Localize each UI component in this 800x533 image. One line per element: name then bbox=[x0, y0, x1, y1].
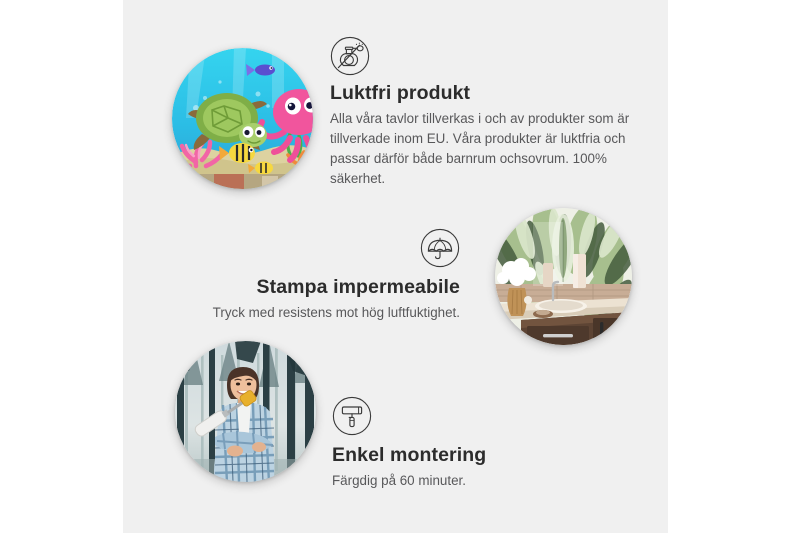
paint-roller-icon bbox=[332, 396, 372, 436]
feature-waterproof-print: Stampa impermeabile Tryck med resistens … bbox=[170, 228, 460, 323]
feature-easy-mounting-title: Enkel montering bbox=[332, 444, 622, 466]
feature-waterproof-body: Tryck med resistens mot hög luftfuktighe… bbox=[170, 303, 460, 323]
photo-bathroom-tropical-wallpaper bbox=[495, 208, 632, 345]
infographic-canvas: Luktfri produkt Alla våra tavlor tillver… bbox=[0, 0, 800, 533]
feature-easy-mounting-body: Färgdig på 60 minuter. bbox=[332, 471, 622, 491]
no-perfume-icon bbox=[330, 36, 370, 76]
umbrella-icon bbox=[420, 228, 460, 268]
feature-odour-free-title: Luktfri produkt bbox=[330, 82, 630, 104]
feature-odour-free-body: Alla våra tavlor tillverkas i och av pro… bbox=[330, 109, 630, 188]
photo-underwater-kids-mural bbox=[172, 48, 313, 189]
feature-easy-mounting: Enkel montering Färgdig på 60 minuter. bbox=[332, 396, 622, 491]
feature-odour-free: Luktfri produkt Alla våra tavlor tillver… bbox=[330, 36, 630, 188]
feature-waterproof-title: Stampa impermeabile bbox=[170, 276, 460, 298]
content-panel: Luktfri produkt Alla våra tavlor tillver… bbox=[123, 0, 668, 533]
photo-painter-woman-forest bbox=[175, 341, 316, 482]
